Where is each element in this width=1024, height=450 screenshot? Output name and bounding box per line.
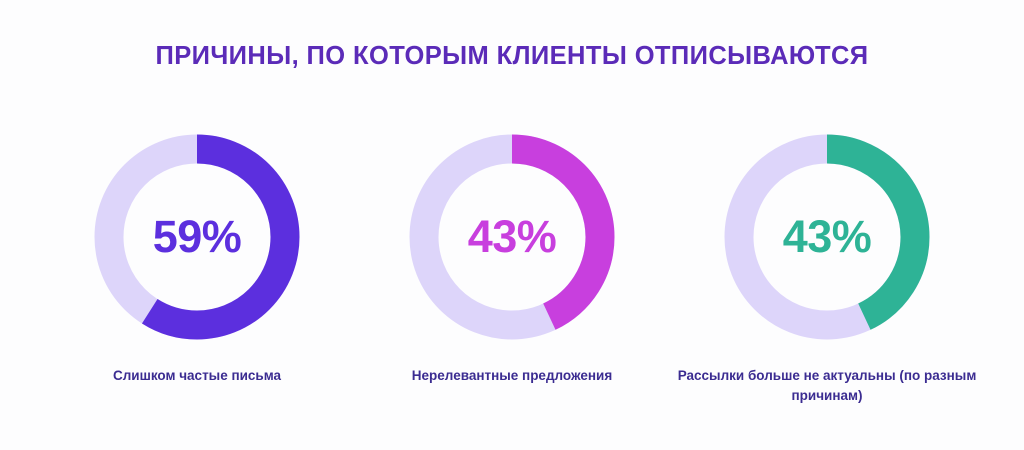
donut-value-label-3: 43% [720, 130, 934, 344]
donut-chart-3: 43% [720, 130, 934, 344]
donut-caption-2: Нерелевантные предложения [362, 366, 662, 386]
donut-value-label-1: 59% [90, 130, 304, 344]
infographic-root: ПРИЧИНЫ, ПО КОТОРЫМ КЛИЕНТЫ ОТПИСЫВАЮТСЯ… [0, 0, 1024, 450]
donut-chart-2: 43% [405, 130, 619, 344]
donut-caption-3: Рассылки больше не актуальны (по разным … [677, 366, 977, 407]
donut-charts-row: 59% Слишком частые письма 43% Нерелевант… [0, 130, 1024, 407]
donut-caption-1: Слишком частые письма [47, 366, 347, 386]
donut-chart-item: 43% Рассылки больше не актуальны (по раз… [670, 130, 985, 407]
page-title: ПРИЧИНЫ, ПО КОТОРЫМ КЛИЕНТЫ ОТПИСЫВАЮТСЯ [0, 42, 1024, 71]
donut-chart-1: 59% [90, 130, 304, 344]
donut-chart-item: 43% Нерелевантные предложения [355, 130, 670, 386]
donut-value-label-2: 43% [405, 130, 619, 344]
donut-chart-item: 59% Слишком частые письма [40, 130, 355, 386]
